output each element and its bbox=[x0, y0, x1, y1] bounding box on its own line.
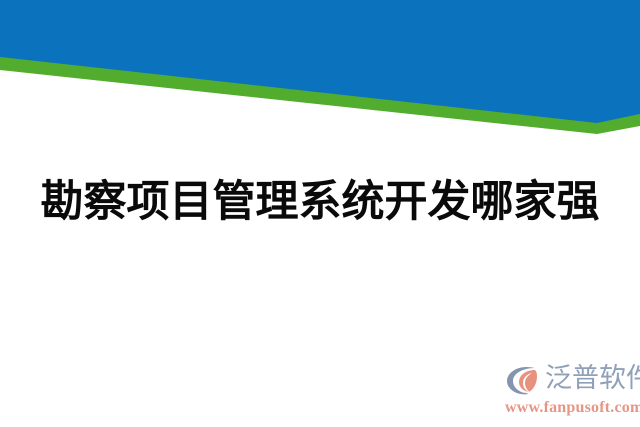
page-title: 勘察项目管理系统开发哪家强 bbox=[0, 176, 640, 228]
fanpu-swoosh-logo-icon bbox=[505, 364, 545, 396]
header-banner bbox=[0, 0, 640, 145]
watermark-logo: 泛普软件 www.fanpusoft.com bbox=[505, 362, 637, 416]
watermark-url: www.fanpusoft.com bbox=[505, 398, 640, 417]
slide-canvas: 勘察项目管理系统开发哪家强 泛普软件 www.fanpusoft.com bbox=[0, 0, 640, 427]
banner-blue-shape bbox=[0, 0, 640, 123]
watermark-brand-row: 泛普软件 bbox=[505, 362, 637, 398]
watermark-brand-name: 泛普软件 bbox=[545, 362, 640, 396]
